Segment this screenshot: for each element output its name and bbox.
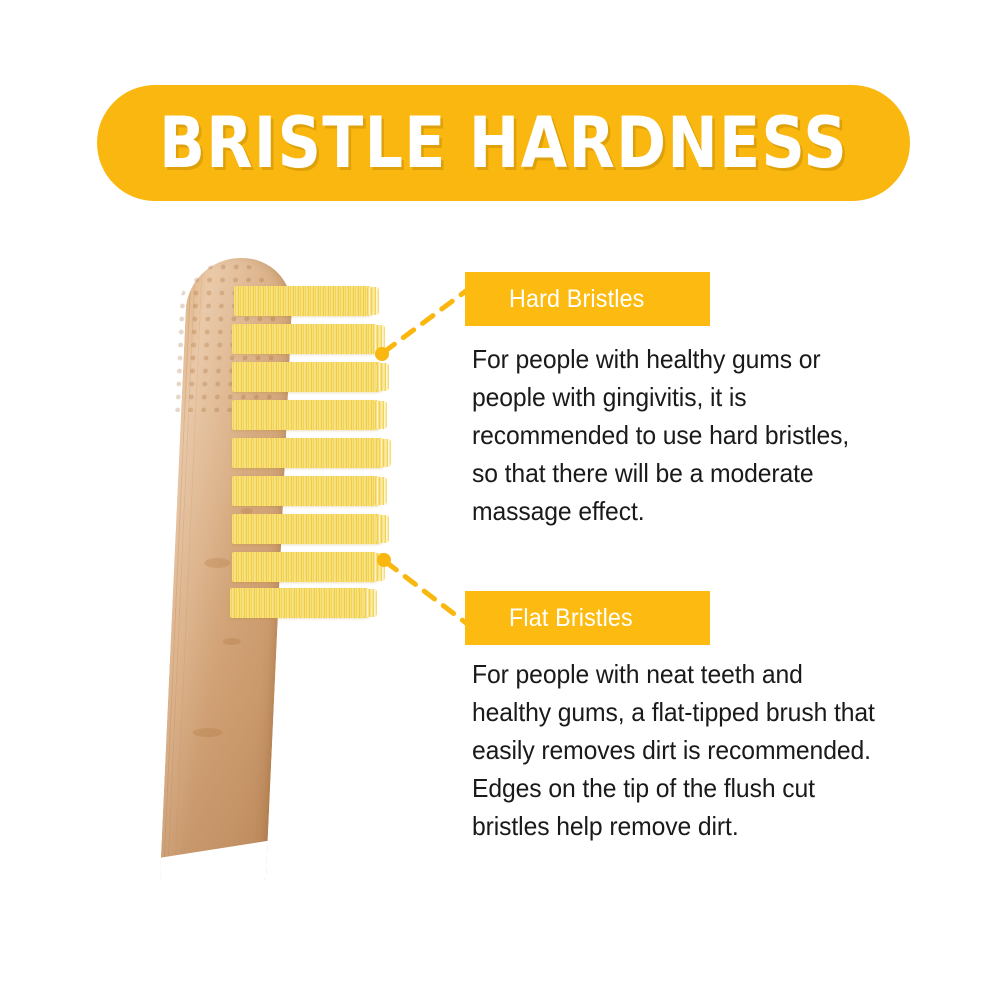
callout-label-hard-bristles: Hard Bristles bbox=[465, 272, 710, 326]
body-line: bristles help remove dirt. bbox=[472, 807, 919, 845]
title-banner: BRISTLE HARDNESS bbox=[97, 85, 910, 201]
callout-body-hard-bristles: For people with healthy gums or people w… bbox=[472, 340, 881, 530]
body-line: For people with neat teeth and bbox=[472, 655, 919, 693]
callout-label-flat-bristles: Flat Bristles bbox=[465, 591, 710, 645]
bristle-tuft bbox=[232, 514, 384, 544]
body-line: For people with healthy gums or bbox=[472, 340, 881, 378]
page-title: BRISTLE HARDNESS bbox=[159, 108, 848, 178]
bristle-tuft bbox=[232, 362, 384, 392]
bristle-tuft bbox=[230, 588, 372, 618]
bristle-tuft bbox=[232, 552, 380, 582]
bristle-tuft bbox=[232, 476, 382, 506]
leader-dot bbox=[375, 347, 389, 361]
connector-flat-bristles bbox=[370, 548, 480, 648]
body-line: recommended to use hard bristles, bbox=[472, 416, 881, 454]
connector-hard-bristles bbox=[370, 268, 480, 368]
bristle-tuft bbox=[232, 400, 382, 430]
dashed-line bbox=[384, 288, 470, 352]
bristle-tuft bbox=[234, 286, 374, 316]
callout-label-text: Flat Bristles bbox=[509, 604, 633, 633]
body-line: easily removes dirt is recommended. bbox=[472, 731, 919, 769]
callout-body-flat-bristles: For people with neat teeth and healthy g… bbox=[472, 655, 919, 845]
bristle-tuft bbox=[232, 438, 386, 468]
body-line: massage effect. bbox=[472, 492, 881, 530]
body-line: healthy gums, a flat-tipped brush that bbox=[472, 693, 919, 731]
body-line: so that there will be a moderate bbox=[472, 454, 881, 492]
leader-dot bbox=[377, 553, 391, 567]
callout-label-text: Hard Bristles bbox=[509, 285, 645, 314]
bristle-tuft bbox=[232, 324, 380, 354]
body-line: people with gingivitis, it is bbox=[472, 378, 881, 416]
body-line: Edges on the tip of the flush cut bbox=[472, 769, 919, 807]
dashed-line bbox=[386, 562, 470, 626]
